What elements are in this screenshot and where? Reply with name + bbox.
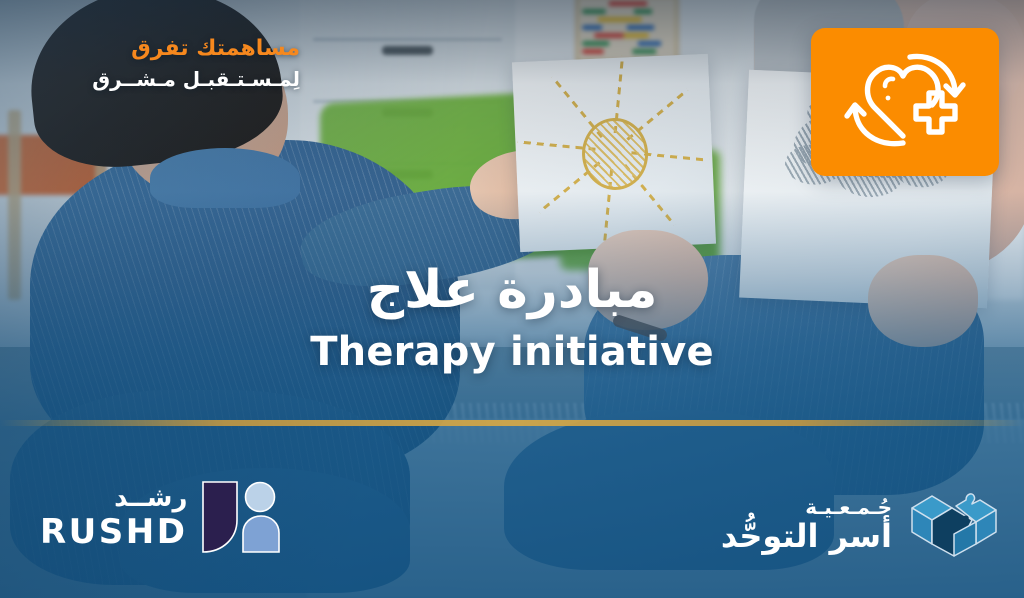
- promo-banner: مساهمتك تفرق لِمـسـتـقبـل مـشــرق: [0, 0, 1024, 598]
- autism-label-line-2: أسر التوحُّد: [721, 520, 892, 552]
- rushd-arabic-label: رشــد: [40, 485, 187, 511]
- rushd-wordmark: رشــد RUSHD: [40, 485, 187, 549]
- tagline-line-2: لِمـسـتـقبـل مـشــرق: [0, 64, 300, 94]
- heart-plus-recovery-icon: [841, 48, 969, 156]
- puzzle-heart-icon: [906, 478, 1002, 570]
- autism-wordmark: جُـمـعـيـة أسر التوحُّد: [721, 497, 892, 552]
- rushd-person-leaf-icon: [201, 480, 287, 554]
- gold-divider-line: [0, 420, 1024, 426]
- autism-families-logo[interactable]: جُـمـعـيـة أسر التوحُّد: [721, 478, 1002, 570]
- heart-plus-recovery-badge: [811, 28, 999, 176]
- tagline-line-1: مساهمتك تفرق: [0, 34, 300, 64]
- page-title-english: Therapy initiative: [0, 329, 1024, 375]
- autism-label-line-1: جُـمـعـيـة: [721, 497, 892, 517]
- rushd-english-label: RUSHD: [40, 515, 187, 549]
- page-title-arabic: مبادرة علاج: [0, 262, 1024, 319]
- headline-block: مبادرة علاج Therapy initiative: [0, 262, 1024, 375]
- tagline-block: مساهمتك تفرق لِمـسـتـقبـل مـشــرق: [0, 34, 300, 94]
- rushd-logo[interactable]: رشــد RUSHD: [40, 480, 287, 554]
